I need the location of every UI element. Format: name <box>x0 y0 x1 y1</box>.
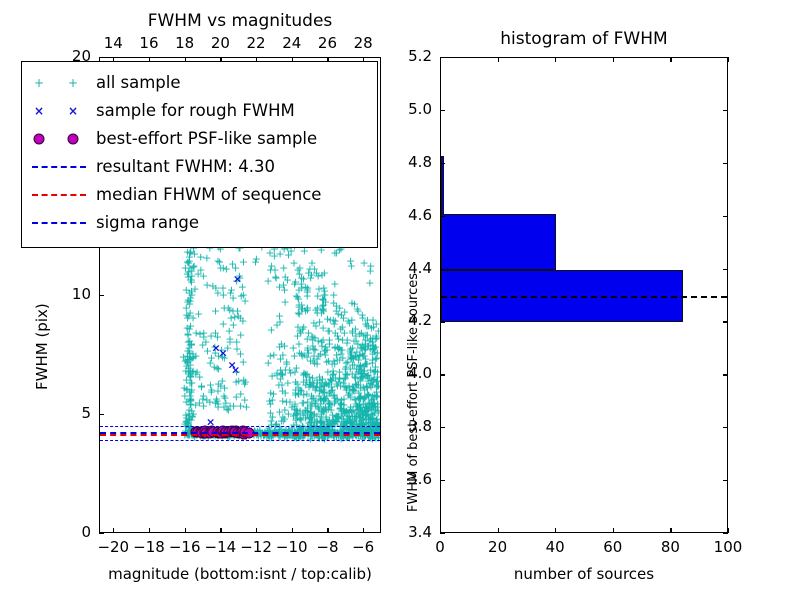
scatter-point-all-sample: + <box>307 398 316 409</box>
scatter-point-all-sample: + <box>356 343 365 354</box>
scatter-point-all-sample: + <box>368 416 377 427</box>
scatter-point-all-sample: + <box>224 405 233 416</box>
scatter-point-all-sample: + <box>184 330 193 341</box>
scatter-point-all-sample: + <box>236 400 245 411</box>
scatter-point-all-sample: + <box>184 310 193 321</box>
histogram-bar <box>441 214 556 270</box>
legend-item: ××sample for rough FWHM <box>22 97 377 125</box>
scatter-point-all-sample: + <box>214 378 223 389</box>
tick-left <box>440 374 445 375</box>
scatter-point-all-sample: + <box>213 287 222 298</box>
scatter-point-all-sample: + <box>358 405 367 416</box>
scatter-point-all-sample: + <box>363 330 372 341</box>
tick-right <box>723 533 728 534</box>
scatter-point-all-sample: + <box>363 388 372 399</box>
scatter-point-all-sample: + <box>325 397 334 408</box>
scatter-point-all-sample: + <box>329 366 338 377</box>
scatter-point-all-sample: + <box>363 314 372 325</box>
scatter-point-all-sample: + <box>183 313 192 324</box>
scatter-point-all-sample: + <box>267 419 276 430</box>
scatter-point-all-sample: + <box>216 381 225 392</box>
scatter-point-all-sample: + <box>365 277 374 288</box>
left-panel-xlabel: magnitude (bottom:isnt / top:calib) <box>99 566 381 583</box>
scatter-point-all-sample: + <box>361 339 370 350</box>
scatter-point-all-sample: + <box>269 350 278 361</box>
scatter-point-all-sample: + <box>295 325 304 336</box>
scatter-point-all-sample: + <box>185 351 194 362</box>
scatter-point-all-sample: + <box>335 303 344 314</box>
right-panel-axes <box>440 57 728 533</box>
scatter-point-all-sample: + <box>366 343 375 354</box>
scatter-point-all-sample: + <box>371 362 380 373</box>
scatter-point-all-sample: + <box>322 412 331 423</box>
scatter-point-all-sample: + <box>306 356 315 367</box>
scatter-point-all-sample: + <box>291 376 300 387</box>
scatter-point-all-sample: + <box>324 388 333 399</box>
scatter-point-all-sample: + <box>306 406 315 417</box>
scatter-point-all-sample: + <box>219 263 228 274</box>
y-tick-label: 3.4 <box>384 524 432 540</box>
scatter-point-all-sample: + <box>335 354 344 365</box>
scatter-point-all-sample: + <box>199 271 208 282</box>
scatter-point-all-sample: + <box>315 416 324 427</box>
scatter-point-all-sample: + <box>330 318 339 329</box>
scatter-point-all-sample: + <box>348 325 357 336</box>
scatter-point-all-sample: + <box>343 414 352 425</box>
scatter-point-all-sample: + <box>332 247 341 258</box>
scatter-point-all-sample: + <box>307 391 316 402</box>
scatter-point-all-sample: + <box>187 406 196 417</box>
scatter-point-all-sample: + <box>355 409 364 420</box>
scatter-point-all-sample: + <box>185 347 194 358</box>
scatter-point-all-sample: + <box>337 395 346 406</box>
scatter-point-all-sample: + <box>330 278 339 289</box>
scatter-point-all-sample: + <box>329 297 338 308</box>
scatter-point-all-sample: + <box>321 401 330 412</box>
scatter-point-all-sample: + <box>356 402 365 413</box>
scatter-point-all-sample: + <box>210 362 219 373</box>
scatter-point-all-sample: + <box>282 358 291 369</box>
scatter-point-all-sample: + <box>291 384 300 395</box>
scatter-point-all-sample: + <box>373 398 380 409</box>
scatter-point-all-sample: + <box>183 269 192 280</box>
scatter-point-all-sample: + <box>306 416 315 427</box>
sigma-range-upper-line <box>100 426 380 427</box>
scatter-point-all-sample: + <box>372 332 380 343</box>
scatter-point-all-sample: + <box>361 359 370 370</box>
scatter-point-all-sample: + <box>367 394 376 405</box>
scatter-point-all-sample: + <box>344 380 353 391</box>
scatter-point-all-sample: + <box>366 411 375 422</box>
scatter-point-all-sample: + <box>351 350 360 361</box>
scatter-point-all-sample: + <box>293 413 302 424</box>
scatter-point-all-sample: + <box>299 389 308 400</box>
scatter-point-all-sample: + <box>303 285 312 296</box>
scatter-point-all-sample: + <box>330 392 339 403</box>
scatter-point-all-sample: + <box>344 406 353 417</box>
scatter-point-all-sample: + <box>291 415 300 426</box>
scatter-point-all-sample: + <box>226 288 235 299</box>
scatter-point-all-sample: + <box>319 304 328 315</box>
scatter-point-all-sample: + <box>213 399 222 410</box>
scatter-point-all-sample: + <box>309 317 318 328</box>
scatter-point-all-sample: + <box>183 346 192 357</box>
scatter-point-all-sample: + <box>327 381 336 392</box>
scatter-point-all-sample: + <box>311 384 320 395</box>
scatter-point-all-sample: + <box>185 371 194 382</box>
scatter-point-all-sample: + <box>354 379 363 390</box>
scatter-point-all-sample: + <box>266 388 275 399</box>
scatter-point-all-sample: + <box>303 403 312 414</box>
scatter-point-all-sample: + <box>185 415 194 426</box>
scatter-point-all-sample: + <box>277 338 286 349</box>
tick-left <box>99 414 104 415</box>
scatter-point-all-sample: + <box>354 404 363 415</box>
scatter-point-all-sample: + <box>339 393 348 404</box>
scatter-point-all-sample: + <box>307 401 316 412</box>
x-tick-label: 40 <box>525 539 585 555</box>
scatter-point-all-sample: + <box>180 390 189 401</box>
scatter-point-all-sample: + <box>364 402 373 413</box>
scatter-point-all-sample: + <box>308 332 317 343</box>
scatter-point-all-sample: + <box>351 411 360 422</box>
scatter-point-all-sample: + <box>323 326 332 337</box>
scatter-point-all-sample: + <box>318 301 327 312</box>
scatter-point-all-sample: + <box>357 327 366 338</box>
scatter-point-all-sample: + <box>186 293 195 304</box>
left-panel-title: FWHM vs magnitudes <box>99 12 381 31</box>
scatter-point-all-sample: + <box>185 288 194 299</box>
scatter-point-all-sample: + <box>317 381 326 392</box>
scatter-point-all-sample: + <box>303 302 312 313</box>
tick-bottom <box>327 528 328 533</box>
scatter-point-all-sample: + <box>316 416 325 427</box>
x-tick-label: 60 <box>583 539 643 555</box>
scatter-point-all-sample: + <box>361 411 370 422</box>
scatter-point-all-sample: + <box>337 309 346 320</box>
scatter-point-all-sample: + <box>284 409 293 420</box>
scatter-point-all-sample: + <box>303 396 312 407</box>
y-tick-label: 0 <box>41 524 91 540</box>
tick-right <box>723 110 728 111</box>
scatter-point-all-sample: + <box>339 400 348 411</box>
scatter-point-all-sample: + <box>317 377 326 388</box>
scatter-point-all-sample: + <box>303 343 312 354</box>
scatter-point-all-sample: + <box>183 328 192 339</box>
scatter-point-all-sample: + <box>324 418 333 429</box>
scatter-point-all-sample: + <box>297 386 306 397</box>
scatter-point-all-sample: + <box>184 342 193 353</box>
scatter-point-all-sample: + <box>181 356 190 367</box>
scatter-point-all-sample: + <box>346 349 355 360</box>
scatter-point-all-sample: + <box>343 368 352 379</box>
scatter-point-all-sample: + <box>181 409 190 420</box>
scatter-point-all-sample: + <box>275 317 284 328</box>
scatter-point-all-sample: + <box>285 365 294 376</box>
scatter-point-all-sample: + <box>327 375 336 386</box>
scatter-point-all-sample: + <box>336 402 345 413</box>
scatter-point-all-sample: + <box>369 343 378 354</box>
scatter-point-all-sample: + <box>207 352 216 363</box>
scatter-point-all-sample: + <box>320 285 329 296</box>
legend-marker: ×× <box>22 97 96 125</box>
scatter-point-all-sample: + <box>347 314 356 325</box>
scatter-point-all-sample: + <box>188 366 197 377</box>
scatter-point-all-sample: + <box>289 343 298 354</box>
scatter-point-all-sample: + <box>316 399 325 410</box>
scatter-point-all-sample: + <box>356 394 365 405</box>
scatter-point-all-sample: + <box>186 275 195 286</box>
tick-right <box>723 374 728 375</box>
scatter-point-all-sample: + <box>358 373 367 384</box>
scatter-point-all-sample: + <box>340 374 349 385</box>
scatter-point-all-sample: + <box>368 374 377 385</box>
tick-bottom <box>498 528 499 533</box>
scatter-point-all-sample: + <box>322 379 331 390</box>
scatter-point-all-sample: + <box>292 290 301 301</box>
scatter-point-all-sample: + <box>183 256 192 267</box>
x-tick-label: 100 <box>698 539 758 555</box>
scatter-point-all-sample: + <box>359 413 368 424</box>
scatter-point-rough-sample: × <box>219 348 228 359</box>
scatter-point-all-sample: + <box>369 340 378 351</box>
scatter-point-all-sample: + <box>186 308 195 319</box>
scatter-point-all-sample: + <box>300 408 309 419</box>
scatter-point-all-sample: + <box>373 391 380 402</box>
scatter-point-all-sample: + <box>276 374 285 385</box>
scatter-point-all-sample: + <box>367 322 376 333</box>
tick-right <box>723 321 728 322</box>
scatter-point-all-sample: + <box>333 331 342 342</box>
scatter-point-all-sample: + <box>348 369 357 380</box>
scatter-point-all-sample: + <box>350 372 359 383</box>
scatter-point-all-sample: + <box>372 387 380 398</box>
scatter-point-all-sample: + <box>186 415 195 426</box>
scatter-point-all-sample: + <box>361 391 370 402</box>
scatter-point-all-sample: + <box>299 377 308 388</box>
scatter-point-all-sample: + <box>360 365 369 376</box>
scatter-point-all-sample: + <box>339 313 348 324</box>
scatter-point-all-sample: + <box>324 395 333 406</box>
y-tick-label: 5.2 <box>384 48 432 64</box>
scatter-point-all-sample: + <box>307 332 316 343</box>
scatter-point-all-sample: + <box>338 334 347 345</box>
scatter-point-all-sample: + <box>369 420 378 431</box>
scatter-point-all-sample: + <box>362 403 371 414</box>
legend-item: ++all sample <box>22 69 377 97</box>
scatter-point-all-sample: + <box>305 411 314 422</box>
scatter-point-all-sample: + <box>196 264 205 275</box>
scatter-point-all-sample: + <box>343 357 352 368</box>
scatter-point-all-sample: + <box>312 383 321 394</box>
scatter-point-all-sample: + <box>218 283 227 294</box>
scatter-point-all-sample: + <box>343 334 352 345</box>
scatter-point-all-sample: + <box>189 262 198 273</box>
legend-label: median FHWM of sequence <box>96 186 321 204</box>
scatter-point-all-sample: + <box>323 314 332 325</box>
scatter-point-all-sample: + <box>368 355 377 366</box>
scatter-point-all-sample: + <box>226 313 235 324</box>
scatter-point-all-sample: + <box>184 336 193 347</box>
scatter-point-all-sample: + <box>303 282 312 293</box>
scatter-point-all-sample: + <box>325 335 334 346</box>
scatter-point-all-sample: + <box>359 381 368 392</box>
scatter-point-all-sample: + <box>343 407 352 418</box>
scatter-point-all-sample: + <box>306 377 315 388</box>
scatter-point-all-sample: + <box>367 414 376 425</box>
scatter-point-all-sample: + <box>352 400 361 411</box>
right-panel-title: histogram of FWHM <box>440 30 728 49</box>
scatter-point-all-sample: + <box>281 387 290 398</box>
scatter-point-all-sample: + <box>183 356 192 367</box>
scatter-point-all-sample: + <box>368 400 377 411</box>
scatter-point-all-sample: + <box>329 416 338 427</box>
scatter-point-all-sample: + <box>316 349 325 360</box>
scatter-point-all-sample: + <box>330 390 339 401</box>
scatter-point-all-sample: + <box>357 410 366 421</box>
scatter-point-all-sample: + <box>354 354 363 365</box>
scatter-point-all-sample: + <box>353 304 362 315</box>
scatter-point-all-sample: + <box>342 337 351 348</box>
scatter-point-all-sample: + <box>308 335 317 346</box>
legend-marker <box>22 181 96 209</box>
scatter-point-all-sample: + <box>317 340 326 351</box>
scatter-point-all-sample: + <box>346 402 355 413</box>
scatter-point-all-sample: + <box>185 251 194 262</box>
scatter-point-all-sample: + <box>220 393 229 404</box>
scatter-point-all-sample: + <box>318 374 327 385</box>
tick-right <box>723 480 728 481</box>
scatter-point-all-sample: + <box>187 377 196 388</box>
scatter-point-all-sample: + <box>238 281 247 292</box>
scatter-point-all-sample: + <box>361 343 370 354</box>
scatter-point-all-sample: + <box>325 419 334 430</box>
scatter-point-all-sample: + <box>341 364 350 375</box>
scatter-point-all-sample: + <box>344 389 353 400</box>
scatter-point-all-sample: + <box>320 393 329 404</box>
scatter-point-all-sample: + <box>298 324 307 335</box>
scatter-point-all-sample: + <box>186 296 195 307</box>
scatter-point-all-sample: + <box>328 385 337 396</box>
scatter-point-all-sample: + <box>355 392 364 403</box>
scatter-point-all-sample: + <box>182 309 191 320</box>
scatter-point-all-sample: + <box>368 357 377 368</box>
scatter-point-all-sample: + <box>312 268 321 279</box>
scatter-point-all-sample: + <box>232 392 241 403</box>
scatter-point-all-sample: + <box>350 393 359 404</box>
scatter-point-all-sample: + <box>299 409 308 420</box>
scatter-point-all-sample: + <box>356 391 365 402</box>
scatter-point-all-sample: + <box>199 400 208 411</box>
scatter-point-all-sample: + <box>330 359 339 370</box>
scatter-point-rough-sample: × <box>233 274 242 285</box>
scatter-point-all-sample: + <box>186 368 195 379</box>
scatter-point-all-sample: + <box>217 345 226 356</box>
scatter-point-all-sample: + <box>320 395 329 406</box>
scatter-point-all-sample: + <box>293 331 302 342</box>
tick-top <box>728 57 729 62</box>
scatter-point-all-sample: + <box>313 308 322 319</box>
scatter-point-all-sample: + <box>354 388 363 399</box>
scatter-point-all-sample: + <box>298 351 307 362</box>
scatter-point-all-sample: + <box>183 356 192 367</box>
scatter-point-all-sample: + <box>234 376 243 387</box>
tick-right <box>723 427 728 428</box>
scatter-point-all-sample: + <box>321 393 330 404</box>
scatter-point-all-sample: + <box>292 363 301 374</box>
scatter-point-all-sample: + <box>184 369 193 380</box>
scatter-point-all-sample: + <box>347 352 356 363</box>
scatter-point-all-sample: + <box>198 339 207 350</box>
scatter-point-all-sample: + <box>358 310 367 321</box>
scatter-point-all-sample: + <box>329 368 338 379</box>
scatter-point-all-sample: + <box>291 390 300 401</box>
scatter-point-all-sample: + <box>223 403 232 414</box>
scatter-point-all-sample: + <box>183 354 192 365</box>
scatter-point-all-sample: + <box>372 377 380 388</box>
scatter-point-all-sample: + <box>315 375 324 386</box>
scatter-point-all-sample: + <box>351 399 360 410</box>
tick-bottom <box>185 528 186 533</box>
scatter-point-all-sample: + <box>326 315 335 326</box>
tick-bottom <box>113 528 114 533</box>
scatter-point-all-sample: + <box>181 366 190 377</box>
scatter-point-all-sample: + <box>302 374 311 385</box>
scatter-point-all-sample: + <box>347 406 356 417</box>
scatter-point-all-sample: + <box>270 250 279 261</box>
scatter-point-all-sample: + <box>225 326 234 337</box>
scatter-point-all-sample: + <box>195 329 204 340</box>
scatter-point-all-sample: + <box>372 319 380 330</box>
scatter-point-all-sample: + <box>214 363 223 374</box>
scatter-point-all-sample: + <box>299 368 308 379</box>
scatter-point-all-sample: + <box>266 415 275 426</box>
scatter-point-all-sample: + <box>362 371 371 382</box>
scatter-point-all-sample: + <box>355 350 364 361</box>
scatter-point-all-sample: + <box>276 353 285 364</box>
scatter-point-all-sample: + <box>186 394 195 405</box>
scatter-point-all-sample: + <box>235 272 244 283</box>
scatter-point-all-sample: + <box>355 364 364 375</box>
scatter-point-all-sample: + <box>347 297 356 308</box>
scatter-point-all-sample: + <box>339 378 348 389</box>
scatter-point-all-sample: + <box>208 280 217 291</box>
scatter-point-all-sample: + <box>220 352 229 363</box>
scatter-point-all-sample: + <box>316 394 325 405</box>
scatter-point-all-sample: + <box>187 274 196 285</box>
scatter-point-all-sample: + <box>187 277 196 288</box>
scatter-point-all-sample: + <box>314 350 323 361</box>
scatter-point-all-sample: + <box>239 289 248 300</box>
scatter-point-all-sample: + <box>279 416 288 427</box>
scatter-point-all-sample: + <box>371 419 380 430</box>
scatter-point-all-sample: + <box>213 331 222 342</box>
scatter-point-all-sample: + <box>325 338 334 349</box>
scatter-point-all-sample: + <box>314 391 323 402</box>
scatter-point-all-sample: + <box>275 341 284 352</box>
scatter-point-all-sample: + <box>302 389 311 400</box>
scatter-point-all-sample: + <box>182 374 191 385</box>
scatter-point-all-sample: + <box>315 403 324 414</box>
scatter-point-all-sample: + <box>191 351 200 362</box>
scatter-point-all-sample: + <box>203 280 212 291</box>
scatter-point-all-sample: + <box>239 256 248 267</box>
scatter-point-all-sample: + <box>331 411 340 422</box>
scatter-point-all-sample: + <box>369 401 378 412</box>
scatter-point-all-sample: + <box>191 368 200 379</box>
scatter-point-all-sample: + <box>349 386 358 397</box>
circle-icon <box>34 134 45 145</box>
